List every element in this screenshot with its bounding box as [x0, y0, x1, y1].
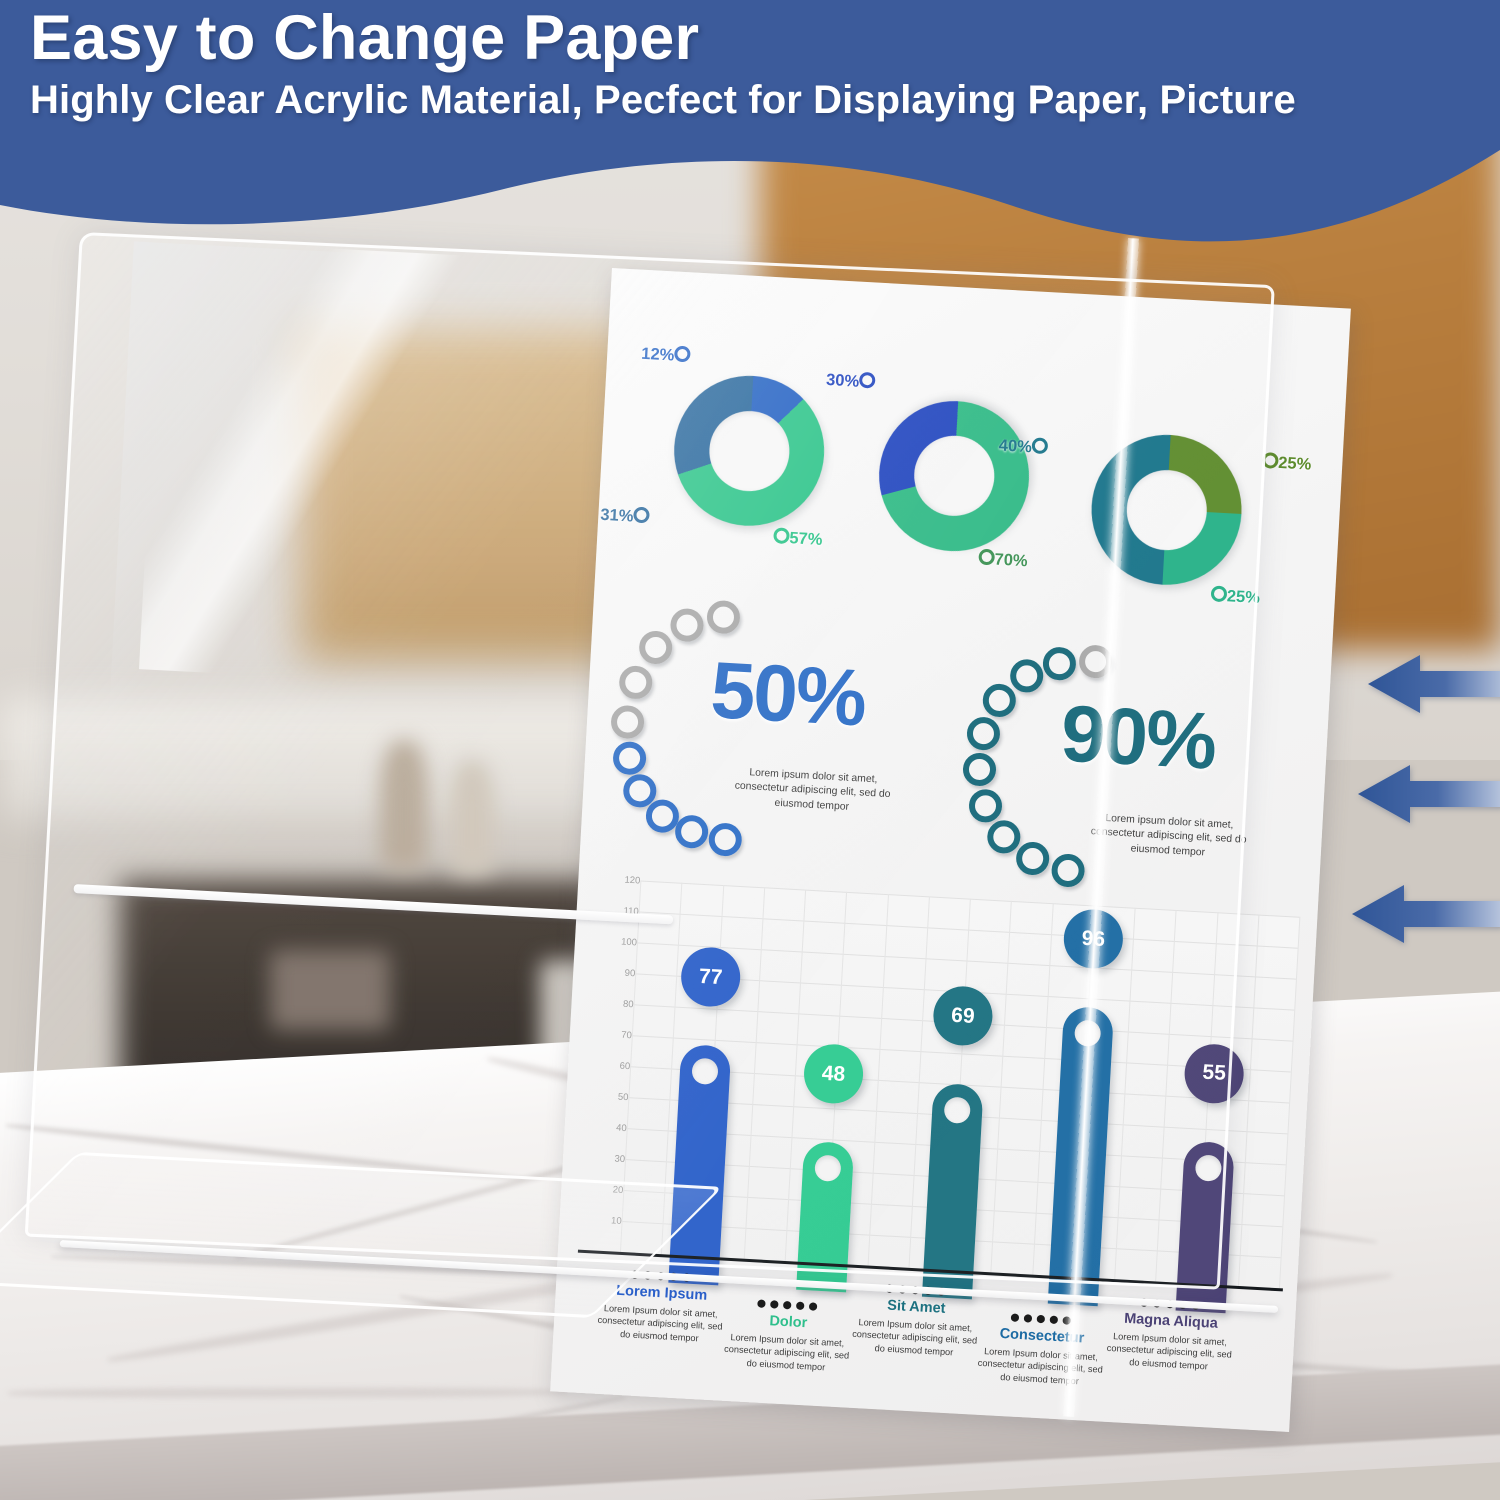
donut-1-label-31: 31% [600, 505, 650, 528]
y-axis-tick: 30 [591, 1152, 626, 1165]
legend-body: Lorem Ipsum dolor sit amet, consectetur … [848, 1316, 982, 1360]
y-axis-tick: 80 [599, 997, 634, 1010]
legend-title: Consectetur [976, 1325, 1109, 1348]
legend-title: Magna Aliqua [1105, 1310, 1238, 1333]
bar-hole [1195, 1154, 1222, 1181]
legend-magna-aliqua: ⬤⬤⬤⬤⬤Magna AliquaLorem Ipsum dolor sit a… [1102, 1297, 1238, 1374]
y-axis-tick: 70 [598, 1028, 633, 1041]
ring-filled [1042, 646, 1077, 681]
ring-filled [1015, 841, 1050, 876]
banner-subtitle: Highly Clear Acrylic Material, Pecfect f… [30, 78, 1460, 122]
legend-rating-dots: ⬤⬤⬤⬤⬤ [977, 1312, 1109, 1327]
legend-body: Lorem Ipsum dolor sit amet, consectetur … [1102, 1330, 1236, 1374]
y-axis-tick: 90 [601, 966, 636, 979]
donut-chart-1 [670, 372, 828, 530]
legend-consectetur: ⬤⬤⬤⬤⬤ConsecteturLorem Ipsum dolor sit am… [973, 1312, 1109, 1389]
donut-3-label-25b: 25% [1210, 585, 1260, 608]
y-axis-tick: 50 [594, 1090, 629, 1103]
ring-empty [638, 630, 673, 665]
donut-chart-3 [1088, 431, 1246, 589]
donut-2-label-30: 30% [826, 370, 876, 393]
ring-empty [610, 705, 645, 740]
legend-lorem-ipsum: ⬤⬤⬤⬤⬤Lorem IpsumLorem Ipsum dolor sit am… [593, 1269, 729, 1346]
y-axis-tick: 110 [604, 905, 639, 918]
progress-50-block: 50% Lorem ipsum dolor sit amet, consecte… [602, 589, 916, 860]
donut-1-label-57: 57% [773, 527, 823, 550]
donut-2-label-70: 70% [978, 549, 1028, 572]
ring-filled [708, 822, 743, 857]
ring-empty [1078, 644, 1113, 679]
y-axis-tick: 60 [596, 1059, 631, 1072]
progress-50-value: 50% [708, 644, 867, 744]
legend-title: Dolor [722, 1311, 855, 1334]
banner-title: Easy to Change Paper [30, 6, 1460, 72]
ring-filled [982, 683, 1017, 718]
legend-dolor: ⬤⬤⬤⬤⬤DolorLorem Ipsum dolor sit amet, co… [720, 1298, 856, 1375]
ring-filled [968, 788, 1003, 823]
ring-filled [612, 741, 647, 776]
donut-chart-row: 12% 31% 57% 30% 70% 40 [595, 320, 1348, 610]
donut-chart-2 [862, 384, 1045, 567]
bar-hole [691, 1058, 718, 1085]
bottle-2 [450, 760, 494, 875]
bar-hole [1074, 1020, 1101, 1047]
ring-filled [1051, 853, 1086, 888]
bar-2 [796, 1141, 854, 1292]
legend-body: Lorem Ipsum dolor sit amet, consectetur … [720, 1331, 854, 1375]
ring-filled [962, 752, 997, 787]
progress-90-value: 90% [1059, 687, 1218, 787]
y-axis-tick: 10 [587, 1214, 622, 1227]
legend-sit-amet: ⬤⬤⬤⬤⬤Sit AmetLorem Ipsum dolor sit amet,… [848, 1283, 984, 1360]
progress-90-body: Lorem ipsum dolor sit amet, consectetur … [1079, 811, 1259, 864]
ring-filled [986, 820, 1021, 855]
ring-filled [1009, 659, 1044, 694]
ring-empty [618, 665, 653, 700]
donut-1-label-12: 12% [641, 344, 691, 367]
donut-3-label-25a: 25% [1262, 452, 1312, 475]
ring-filled [674, 814, 709, 849]
product-photo-stage: 12% 31% 57% 30% 70% 40 [0, 0, 1500, 1500]
ring-empty [670, 608, 705, 643]
ring-empty [706, 600, 741, 635]
legend-body: Lorem Ipsum dolor sit amet, consectetur … [973, 1345, 1107, 1389]
legend-body: Lorem Ipsum dolor sit amet, consectetur … [593, 1302, 727, 1346]
y-axis-tick: 40 [592, 1121, 627, 1134]
y-axis-tick: 100 [603, 936, 638, 949]
progress-50-body: Lorem ipsum dolor sit amet, consectetur … [722, 765, 902, 818]
y-axis-tick: 20 [589, 1183, 624, 1196]
ring-filled [966, 716, 1001, 751]
bar-hole [944, 1097, 971, 1124]
legend-rating-dots: ⬤⬤⬤⬤⬤ [723, 1298, 855, 1313]
legend-title: Sit Amet [850, 1296, 983, 1319]
cabinet-object-1 [270, 950, 390, 1030]
legend-title: Lorem Ipsum [595, 1282, 728, 1305]
y-axis-tick: 120 [606, 874, 641, 887]
bottle-1 [380, 740, 428, 870]
bar-chart: 120110100908070605040302010 7748699655 [576, 878, 1303, 1316]
bar-hole [814, 1155, 841, 1182]
progress-90-block: 90% Lorem ipsum dolor sit amet, consecte… [956, 636, 1270, 907]
infographic-poster: 12% 31% 57% 30% 70% 40 [550, 268, 1351, 1432]
donut-3-label-40: 40% [998, 436, 1048, 459]
header-text-group: Easy to Change Paper Highly Clear Acryli… [30, 6, 1460, 122]
